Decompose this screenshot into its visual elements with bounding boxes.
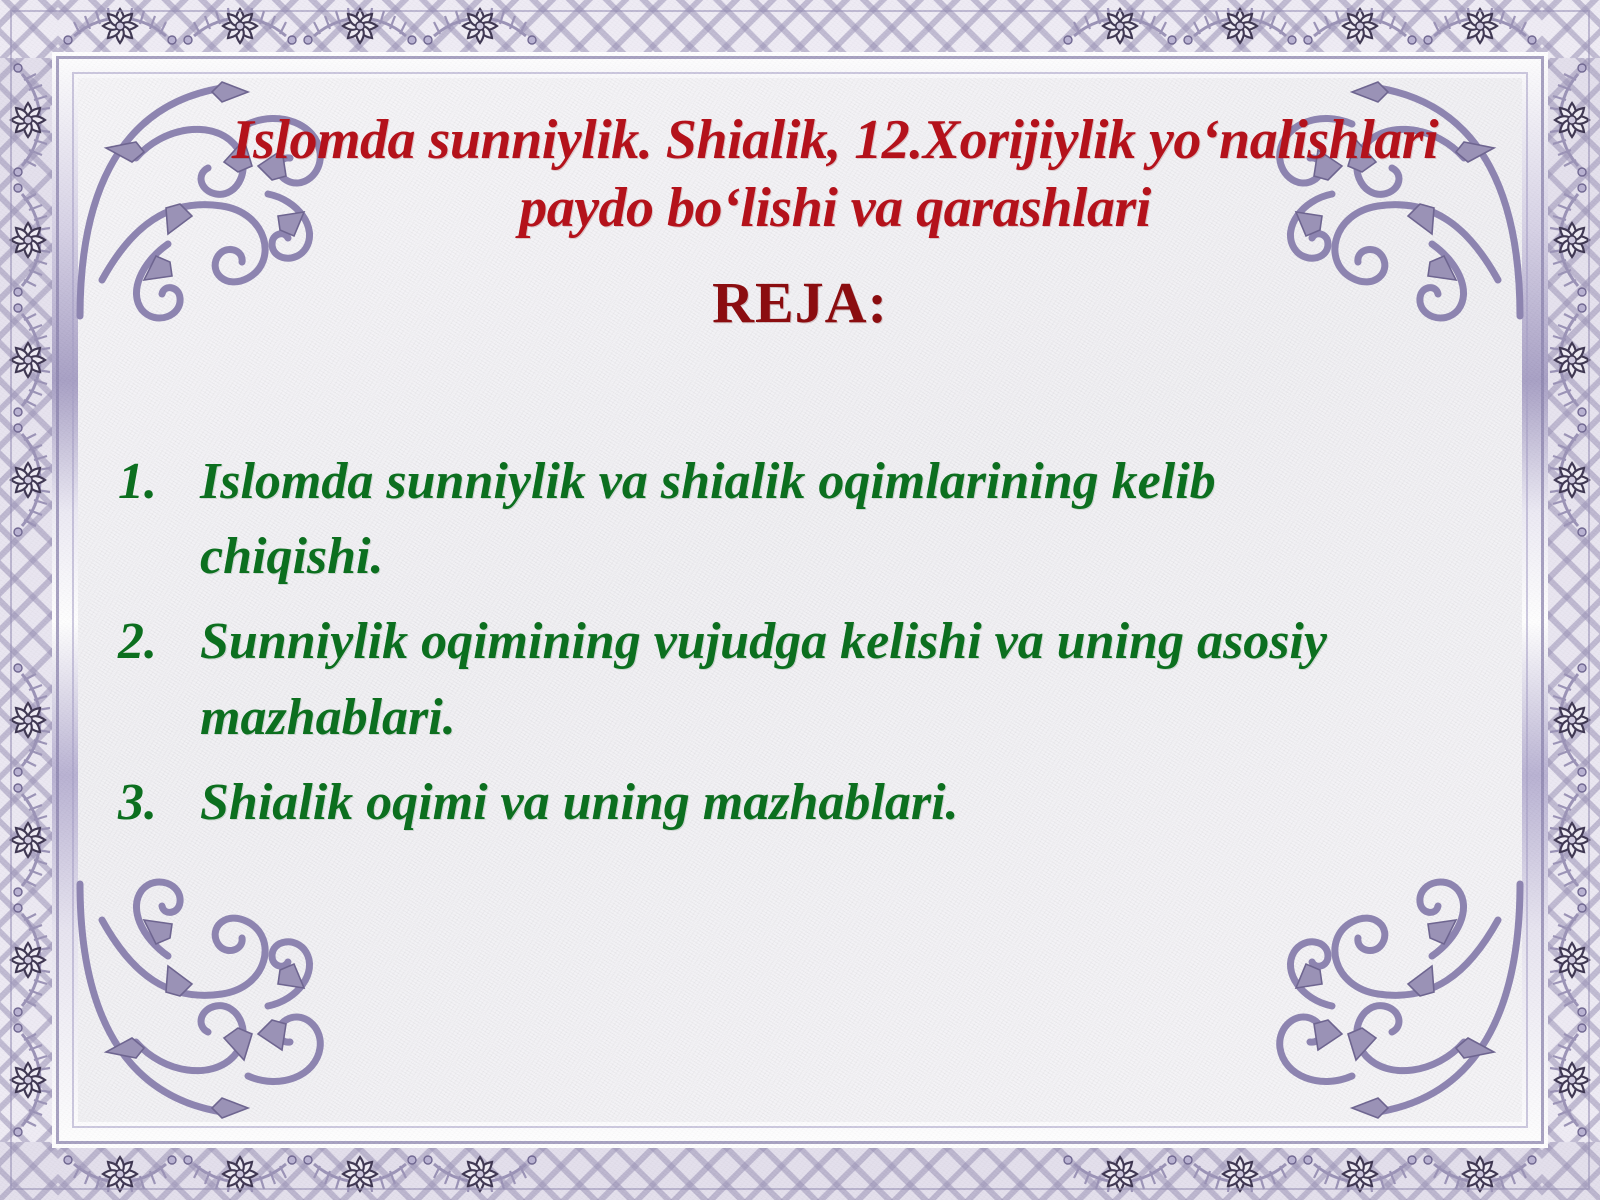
plan-list-item: 1. Islomda sunniylik va shialik oqimlari… (96, 444, 1462, 595)
presentation-slide: Islomda sunniylik. Shialik, 12.Xorijiyli… (0, 0, 1600, 1200)
plan-item-text: Shialik oqimi va uning mazhablari. (200, 765, 1462, 840)
plan-list: 1. Islomda sunniylik va shialik oqimlari… (96, 444, 1462, 851)
plan-item-number: 1. (96, 444, 200, 519)
slide-content: Islomda sunniylik. Shialik, 12.Xorijiyli… (78, 78, 1522, 1122)
plan-item-text: Sunniylik oqimining vujudga kelishi va u… (200, 604, 1462, 755)
plan-item-number: 3. (96, 765, 200, 840)
plan-item-text: Islomda sunniylik va shialik oqimlarinin… (200, 444, 1462, 595)
plan-item-number: 2. (96, 604, 200, 679)
plan-list-item: 3. Shialik oqimi va uning mazhablari. (96, 765, 1462, 840)
slide-title: Islomda sunniylik. Shialik, 12.Xorijiyli… (188, 106, 1482, 243)
plan-list-item: 2. Sunniylik oqimining vujudga kelishi v… (96, 604, 1462, 755)
section-heading: REJA: (78, 269, 1522, 336)
